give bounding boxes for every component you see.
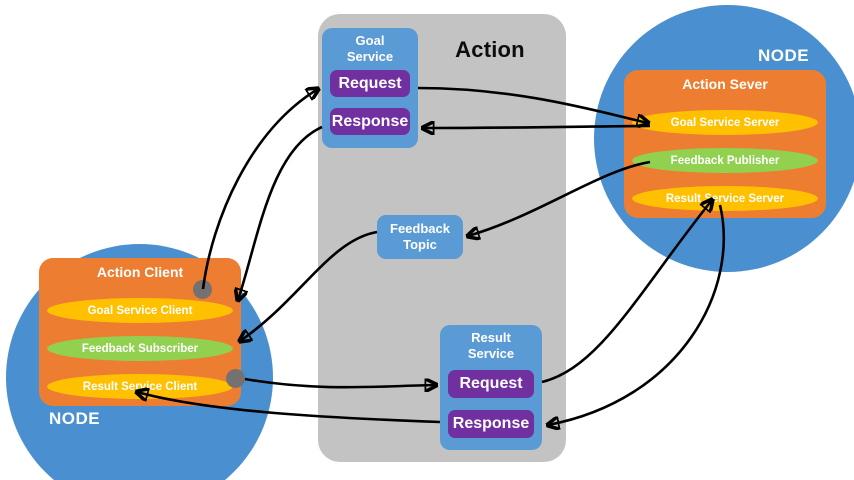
pill-result-service-client[interactable]: Result Service Client [47, 374, 233, 399]
action-panel-title: Action [430, 37, 550, 63]
node-server-label: NODE [758, 46, 809, 66]
feedback-topic-box: Feedback Topic [377, 215, 463, 259]
goal-service-response[interactable]: Response [330, 108, 410, 135]
arrow-goal-response-to-client [238, 127, 322, 300]
result-service-box: Result Service Request Response [440, 325, 542, 450]
result-connector-dot [226, 369, 245, 388]
feedback-topic-title-line2: Topic [377, 237, 463, 253]
goal-service-title: Goal Service [322, 33, 418, 65]
feedback-topic-title: Feedback Topic [377, 221, 463, 253]
node-client-label: NODE [49, 409, 100, 429]
result-service-response[interactable]: Response [448, 410, 534, 438]
goal-connector-dot [193, 280, 212, 299]
pill-goal-service-server[interactable]: Goal Service Server [632, 110, 818, 135]
action-server-box: Action Sever Goal Service Server Feedbac… [624, 70, 826, 218]
goal-service-title-line1: Goal [322, 33, 418, 49]
goal-service-request[interactable]: Request [330, 70, 410, 97]
goal-service-title-line2: Service [322, 49, 418, 65]
result-service-request[interactable]: Request [448, 370, 534, 398]
diagram-canvas: Action NODE NODE Action Sever Goal Servi… [0, 0, 854, 480]
pill-goal-service-client[interactable]: Goal Service Client [47, 298, 233, 323]
action-server-title: Action Sever [624, 76, 826, 92]
action-client-box: Action Client Goal Service Client Feedba… [39, 258, 241, 406]
result-service-title-line1: Result [440, 330, 542, 346]
feedback-topic-title-line1: Feedback [377, 221, 463, 237]
result-service-title: Result Service [440, 330, 542, 362]
pill-feedback-subscriber[interactable]: Feedback Subscriber [47, 336, 233, 361]
pill-feedback-publisher[interactable]: Feedback Publisher [632, 148, 818, 173]
result-service-title-line2: Service [440, 346, 542, 362]
pill-result-service-server[interactable]: Result Service Server [632, 186, 818, 211]
action-client-title: Action Client [39, 264, 241, 280]
goal-service-box: Goal Service Request Response [322, 28, 418, 148]
